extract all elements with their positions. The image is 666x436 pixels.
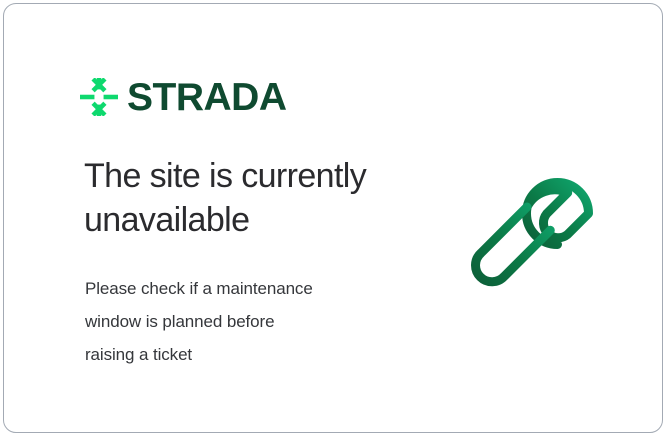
status-card: STRADA The site is currently unavailable… (3, 3, 663, 433)
page-description: Please check if a maintenance window is … (85, 272, 415, 371)
description-line-1: Please check if a maintenance (85, 272, 415, 305)
wrench-icon (459, 162, 619, 314)
page-title: The site is currently unavailable (84, 154, 424, 242)
strada-asterisk-icon (80, 78, 118, 116)
brand-logo: STRADA (80, 72, 287, 122)
error-page: STRADA The site is currently unavailable… (0, 0, 666, 436)
description-line-3: raising a ticket (85, 338, 415, 371)
description-line-2: window is planned before (85, 305, 415, 338)
brand-wordmark: STRADA (127, 78, 287, 117)
